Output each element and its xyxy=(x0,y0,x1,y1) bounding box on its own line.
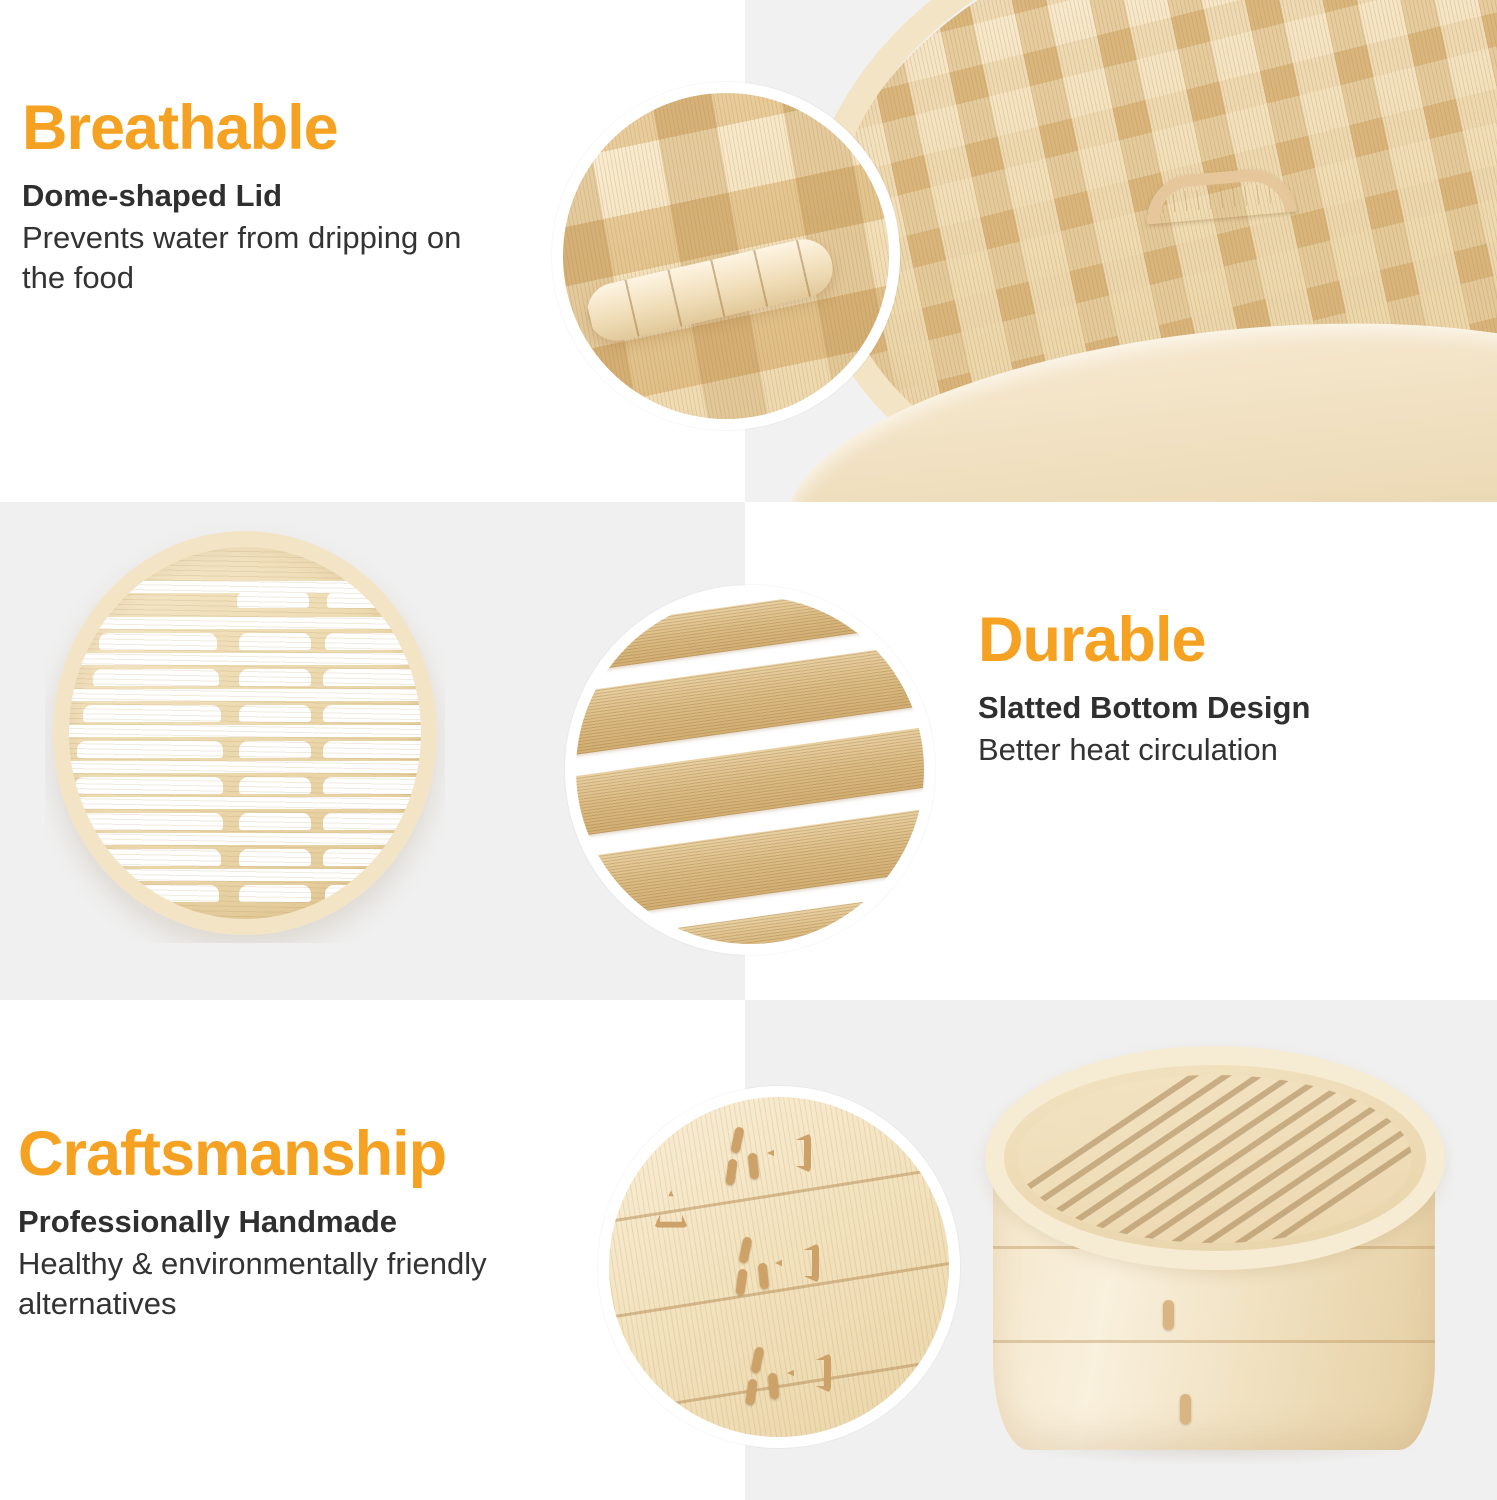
slat-hole xyxy=(325,633,415,650)
inset-stitch-background xyxy=(609,1097,949,1437)
slat-hole xyxy=(93,669,219,686)
inset-stitching-closeup xyxy=(598,1086,960,1448)
photo-two-tier-basket xyxy=(945,1022,1497,1500)
headline-craftsmanship: Craftsmanship xyxy=(18,1122,578,1186)
inset-lid-handle-closeup xyxy=(552,82,900,430)
slat-gap-row xyxy=(69,833,421,845)
slat-hole xyxy=(77,741,223,758)
feature-text-craftsmanship: Craftsmanship Professionally Handmade He… xyxy=(18,1122,578,1325)
slat-gap-row xyxy=(69,617,421,629)
photo-slatted-bottom xyxy=(45,523,445,943)
feature-text-durable: Durable Slatted Bottom Design Better hea… xyxy=(978,608,1478,770)
slat-gap-row xyxy=(69,689,421,701)
slat-hole xyxy=(239,777,311,794)
slat-hole xyxy=(323,669,421,686)
slatted-disc xyxy=(53,531,437,935)
slat-gap-row xyxy=(69,869,421,881)
headline-durable: Durable xyxy=(978,608,1478,672)
basket-slatted-floor xyxy=(1018,1075,1412,1243)
slat-hole xyxy=(323,741,435,758)
slat-rows xyxy=(69,547,421,919)
slat-gap-row xyxy=(69,797,421,809)
slat-hole xyxy=(237,591,309,608)
slat-hole xyxy=(239,741,311,758)
slat-hole xyxy=(239,633,311,650)
body-craftsmanship: Healthy & environmentally friendly alter… xyxy=(18,1244,558,1325)
slat-hole xyxy=(325,885,401,902)
slat-hole xyxy=(79,813,223,830)
subhead-breathable: Dome-shaped Lid xyxy=(22,177,492,216)
slat-hole xyxy=(113,885,219,902)
slat-hole xyxy=(99,633,217,650)
body-breathable: Prevents water from dripping on the food xyxy=(22,218,492,299)
slat-hole xyxy=(83,705,221,722)
slat-gap-row xyxy=(69,653,421,665)
slat-hole xyxy=(239,669,311,686)
slat-hole xyxy=(239,705,311,722)
slat-hole xyxy=(75,777,223,794)
basket-top-rim xyxy=(985,1046,1445,1270)
slat-hole xyxy=(239,849,311,866)
slat-hole xyxy=(323,813,431,830)
slat-gap-row xyxy=(69,761,421,773)
slat-gap-row xyxy=(69,725,421,737)
inset-slat-background xyxy=(576,596,924,944)
subhead-craftsmanship: Professionally Handmade xyxy=(18,1203,578,1242)
slat-hole xyxy=(327,591,411,608)
inset-slat-closeup xyxy=(565,585,935,955)
slat-hole xyxy=(323,849,419,866)
product-feature-infographic: Breathable Dome-shaped Lid Prevents wate… xyxy=(0,0,1497,1500)
slat-hole xyxy=(323,705,429,722)
basket-knot xyxy=(1163,1300,1174,1330)
slat-hole xyxy=(91,849,221,866)
headline-breathable: Breathable xyxy=(22,96,492,160)
feature-text-breathable: Breathable Dome-shaped Lid Prevents wate… xyxy=(22,96,492,299)
slat-hole xyxy=(323,777,435,794)
slat-hole xyxy=(239,885,311,902)
subhead-durable: Slatted Bottom Design xyxy=(978,689,1478,728)
slat-hole xyxy=(239,813,311,830)
body-durable: Better heat circulation xyxy=(978,730,1478,770)
basket-knot xyxy=(1180,1394,1191,1424)
